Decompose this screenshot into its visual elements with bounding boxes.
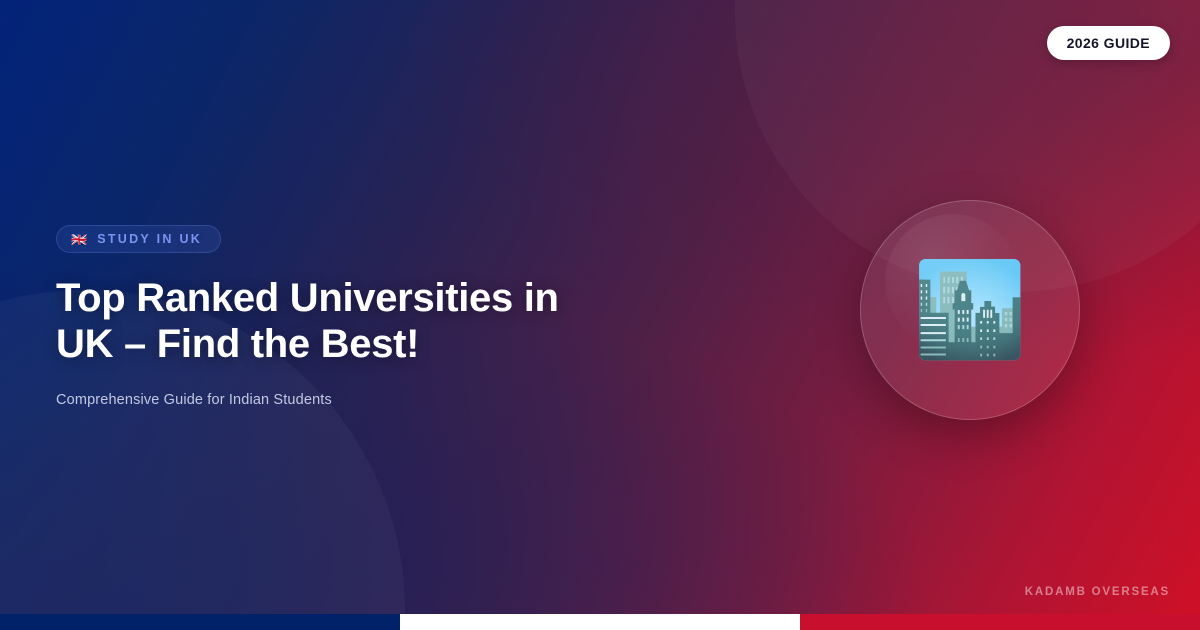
flagbar-segment-blue [0, 614, 400, 630]
uk-flag-accent-bar [0, 614, 1200, 630]
uk-flag-icon: 🇬🇧 [71, 233, 87, 246]
study-in-uk-badge: 🇬🇧 STUDY IN UK [56, 225, 221, 253]
hero-visual-circle: 🏙️ [860, 200, 1080, 420]
cityscape-icon: 🏙️ [913, 264, 1028, 356]
hero-content: 🇬🇧 STUDY IN UK Top Ranked Universities i… [56, 225, 676, 408]
page-subtitle: Comprehensive Guide for Indian Students [56, 392, 676, 408]
brand-watermark: KADAMB OVERSEAS [1025, 586, 1170, 598]
hero-banner: 2026 GUIDE 🇬🇧 STUDY IN UK Top Ranked Uni… [0, 0, 1200, 630]
flagbar-segment-white [400, 614, 800, 630]
flagbar-segment-red [800, 614, 1200, 630]
page-title: Top Ranked Universities in UK – Find the… [56, 275, 616, 368]
guide-year-badge[interactable]: 2026 GUIDE [1047, 26, 1170, 60]
study-in-uk-label: STUDY IN UK [97, 232, 202, 246]
